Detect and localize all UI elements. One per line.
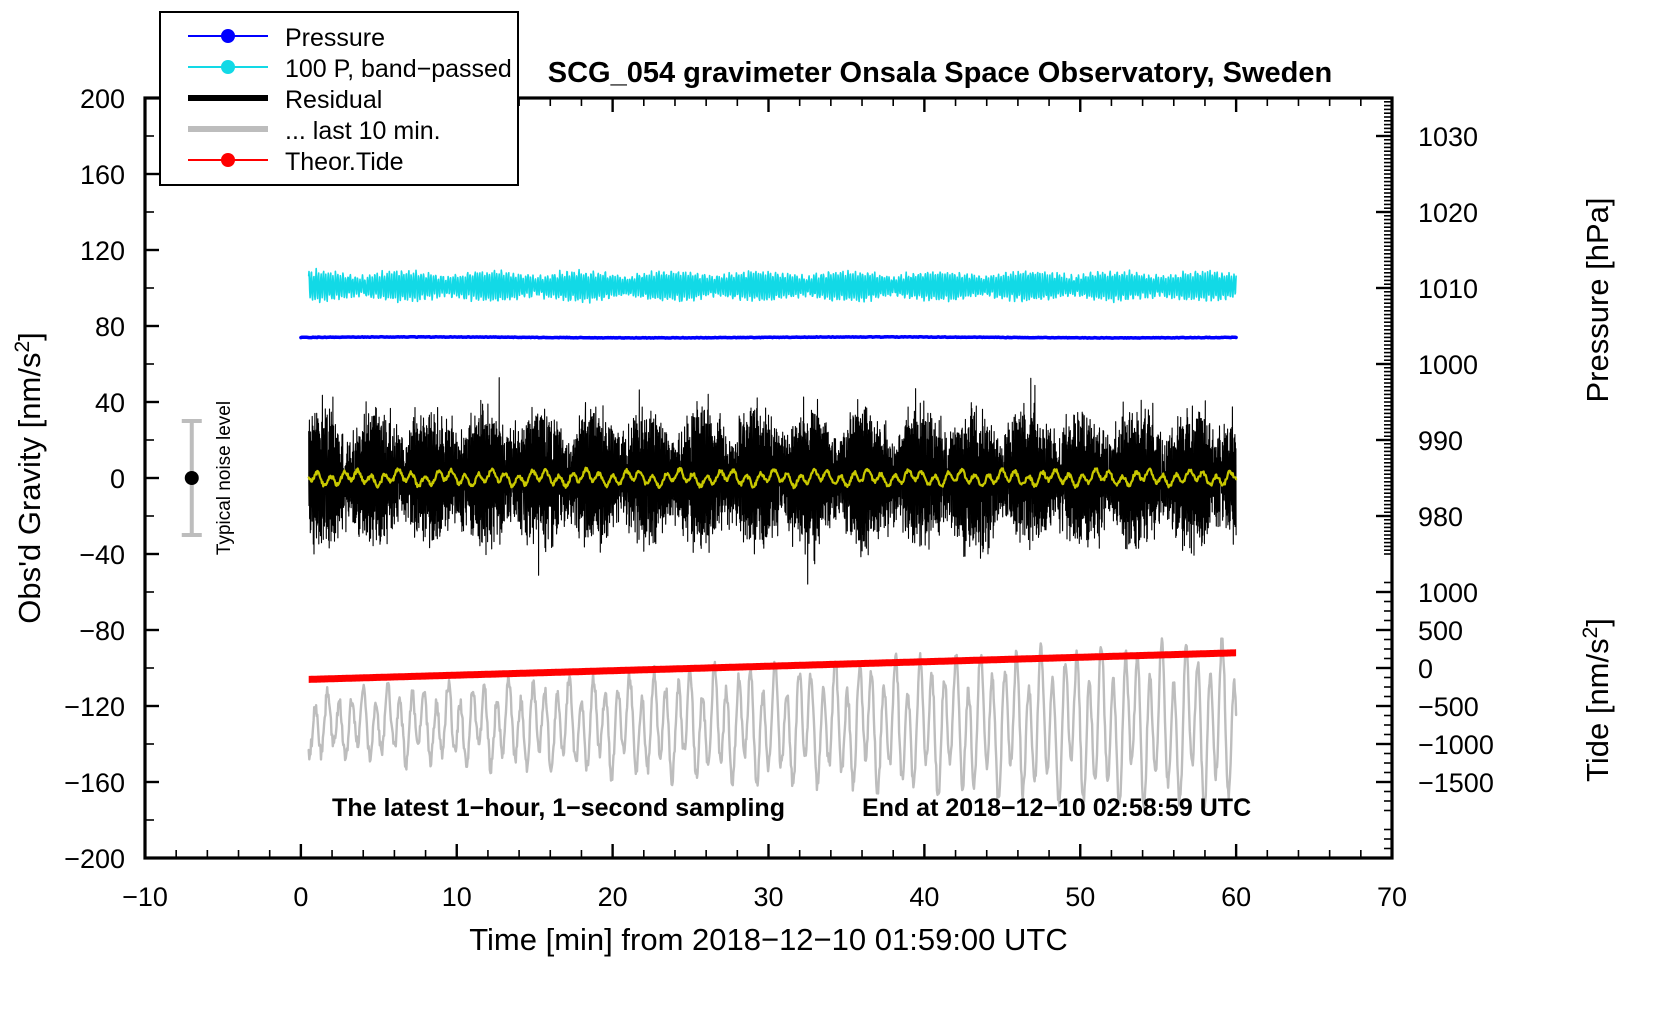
y-tick-label: −160 [64,768,125,798]
x-tick-label: 70 [1377,882,1407,912]
chart-title: SCG_054 gravimeter Onsala Space Observat… [548,57,1332,89]
pressure-tick-label: 990 [1418,426,1463,456]
y-tick-label: 120 [80,236,125,266]
noise-level-marker [182,421,202,535]
noise-level-label: Typical noise level [214,401,235,555]
pressure-tick-label: 980 [1418,502,1463,532]
y-tick-label: 40 [95,388,125,418]
series-theor-tide [309,653,1236,680]
x-tick-label: 60 [1221,882,1251,912]
y-tick-label: 80 [95,312,125,342]
chart-canvas: −1001020304050607020016012080400−40−80−1… [0,0,1660,1020]
legend-label[interactable]: ... last 10 min. [285,117,441,145]
x-tick-label: 10 [442,882,472,912]
y-tick-label: −40 [79,540,125,570]
legend-marker-dot [221,153,235,167]
tide-tick-label: 500 [1418,616,1463,646]
legend[interactable]: Pressure100 P, band−passedResidual... la… [160,12,518,185]
pressure-tick-label: 1000 [1418,350,1478,380]
x-tick-label: 50 [1065,882,1095,912]
y-tick-label: 0 [110,464,125,494]
tide-tick-label: −1000 [1418,730,1494,760]
tide-tick-label: −1500 [1418,768,1494,798]
series-residual [309,378,1236,584]
pressure-tick-label: 1020 [1418,198,1478,228]
sampling-note: The latest 1−hour, 1−second sampling [332,794,785,822]
legend-marker-dot [221,60,235,74]
noise-center-dot [185,471,199,485]
legend-label[interactable]: Residual [285,86,382,114]
x-axis-title: Time [min] from 2018−12−10 01:59:00 UTC [469,922,1068,957]
y-tick-label: −80 [79,616,125,646]
legend-marker-dot [221,29,235,43]
x-tick-label: 20 [598,882,628,912]
legend-label[interactable]: 100 P, band−passed [285,55,512,83]
series-bandpassed [309,269,1236,304]
pressure-axis-title: Pressure [hPa] [1580,197,1615,402]
x-tick-label: −10 [122,882,168,912]
legend-label[interactable]: Theor.Tide [285,148,404,176]
pressure-tick-label: 1010 [1418,274,1478,304]
y-tick-label: −120 [64,692,125,722]
chart-figure: −1001020304050607020016012080400−40−80−1… [0,0,1660,1020]
pressure-tick-label: 1030 [1418,122,1478,152]
tide-tick-label: 1000 [1418,578,1478,608]
y-axis-title: Obs'd Gravity [nm/s2] [11,332,48,624]
x-tick-label: 30 [753,882,783,912]
end-time-note: End at 2018−12−10 02:58:59 UTC [862,794,1251,822]
y-tick-label: −200 [64,844,125,874]
y-tick-label: 160 [80,160,125,190]
tide-tick-label: 0 [1418,654,1433,684]
legend-label[interactable]: Pressure [285,24,385,52]
data-series-group [301,269,1236,809]
tide-axis-title: Tide [nm/s2] [1579,618,1616,782]
x-tick-label: 40 [909,882,939,912]
series-pressure [301,337,1236,338]
x-tick-label: 0 [293,882,308,912]
y-tick-label: 200 [80,84,125,114]
tide-tick-label: −500 [1418,692,1479,722]
